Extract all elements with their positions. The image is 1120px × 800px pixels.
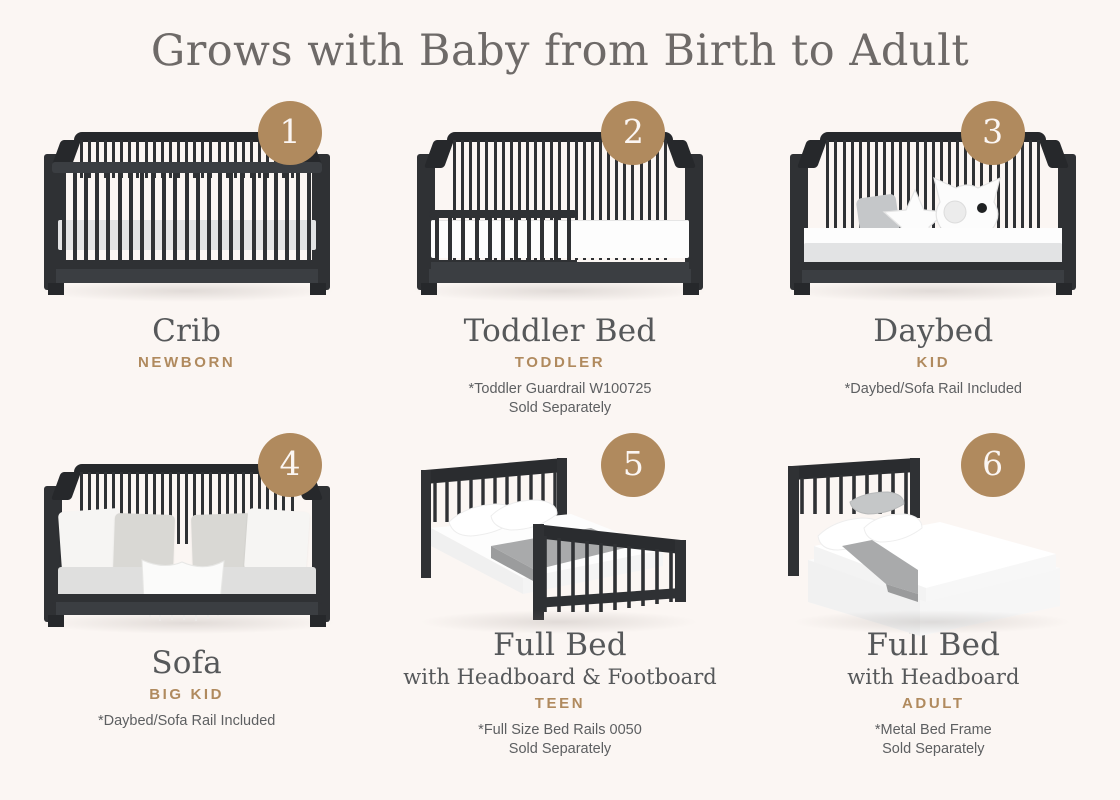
page-title: Grows with Baby from Birth to Adult [0,26,1120,76]
daybed-base-panel [802,270,1064,283]
sofa-cushion-4 [244,508,310,574]
crib-base-panel [56,269,318,283]
product-note: *Full Size Bed Rails 0050 Sold Separatel… [395,721,725,760]
product-cell-sofa[interactable]: 4 [0,428,373,760]
stage-tag: KID [768,354,1098,371]
product-name: Sofa [22,646,352,681]
step-badge-3: 3 [961,101,1025,165]
product-grid: 1 [0,96,1120,760]
toddler-left-flare [424,140,454,168]
product-subtitle: with Headboard [768,664,1098,690]
step-badge-1: 1 [258,101,322,165]
sofa-base-panel [56,602,318,615]
toddler-guardrail-top [429,210,577,218]
product-labels-sofa: Sofa BIG KID *Daybed/Sofa Rail Included [22,646,352,731]
infographic-page: Grows with Baby from Birth to Adult 1 [0,0,1120,800]
floor-shadow [411,280,709,302]
product-note: *Metal Bed Frame Sold Separately [768,721,1098,760]
product-note: *Daybed/Sofa Rail Included [22,712,352,732]
step-badge-2: 2 [601,101,665,165]
toddler-leg-left [421,283,437,295]
product-cell-daybed[interactable]: 3 [747,96,1120,428]
floor-shadow [38,280,336,302]
crib-front-slats-lower [62,220,312,263]
product-note: *Daybed/Sofa Rail Included [768,380,1098,400]
product-cell-full-bed-headboard-footboard[interactable]: 5 [373,428,746,760]
daybed-leg-right [1056,283,1072,295]
product-labels-daybed: Daybed KID *Daybed/Sofa Rail Included [768,314,1098,399]
crib-leg-right [310,283,326,295]
stage-tag: TODDLER [395,354,725,371]
product-image-full-bed-hb [768,442,1098,620]
toddler-base-panel [429,269,691,283]
product-labels-full-bed-hb: Full Bed with Headboard ADULT *Metal Bed… [768,628,1098,760]
product-image-full-bed-hb-fb [395,442,725,620]
product-labels-crib: Crib NEWBORN [22,314,352,371]
stage-tag: BIG KID [22,686,352,703]
product-cell-crib[interactable]: 1 [0,96,373,428]
product-name: Toddler Bed [395,314,725,349]
crib-bottom-rail [52,260,322,269]
floor-shadow [792,610,1072,634]
product-name: Daybed [768,314,1098,349]
product-image-toddler-bed [395,110,725,306]
full-bed-hb-fb-illustration [395,442,725,638]
product-cell-full-bed-headboard[interactable]: 6 [747,428,1120,760]
crib-leg-left [48,283,64,295]
stage-tag: ADULT [768,695,1098,712]
floor-shadow [784,280,1082,302]
product-cell-toddler-bed[interactable]: 2 [373,96,746,428]
daybed-left-flare [797,140,827,168]
floor-shadow [419,610,699,634]
toddler-guardrail-slats [435,218,571,262]
toddler-leg-right [683,283,699,295]
sofa-leg-right [310,615,326,627]
product-labels-full-bed-hb-fb: Full Bed with Headboard & Footboard TEEN… [395,628,725,760]
product-name: Crib [22,314,352,349]
product-note: *Toddler Guardrail W100725 Sold Separate… [395,380,725,419]
daybed-leg-left [794,283,810,295]
sofa-leg-left [48,615,64,627]
sofa-left-flare [51,472,81,500]
stage-tag: TEEN [395,695,725,712]
product-image-daybed [768,110,1098,306]
step-badge-5: 5 [601,433,665,497]
product-subtitle: with Headboard & Footboard [395,664,725,690]
full-bed-hb-illustration [768,442,1098,638]
step-badge-4: 4 [258,433,322,497]
step-badge-6: 6 [961,433,1025,497]
stage-tag: NEWBORN [22,354,352,371]
product-labels-toddler-bed: Toddler Bed TODDLER *Toddler Guardrail W… [395,314,725,419]
